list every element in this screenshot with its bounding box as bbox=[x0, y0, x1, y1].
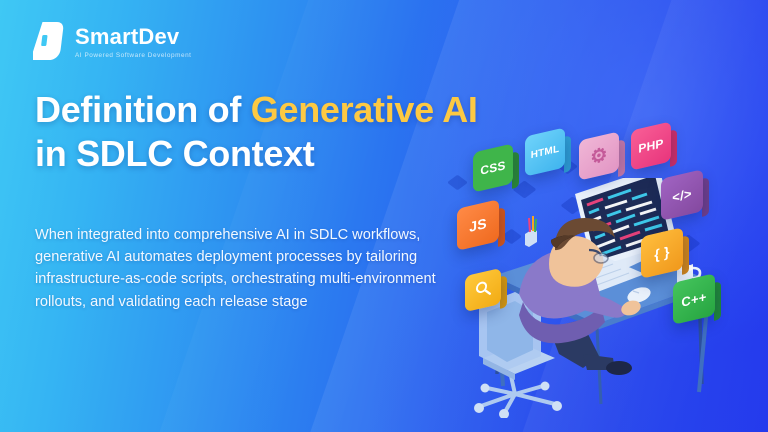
gear-icon: ⚙ bbox=[590, 143, 607, 170]
brand-logo[interactable]: SmartDev AI Powered Software Development bbox=[33, 22, 192, 60]
brand-text: SmartDev AI Powered Software Development bbox=[75, 24, 192, 59]
headline-accent: Generative AI bbox=[251, 89, 478, 130]
badge-cpp-label: C++ bbox=[681, 289, 706, 310]
badge-css[interactable]: CSS bbox=[473, 148, 513, 188]
slide-canvas: SmartDev AI Powered Software Development… bbox=[0, 0, 768, 432]
badge-js[interactable]: JS bbox=[457, 204, 499, 246]
code-tag-icon: </> bbox=[672, 185, 691, 204]
headline-line1-prefix: Definition of bbox=[35, 89, 251, 130]
badge-php-label: PHP bbox=[638, 136, 663, 156]
badge-braces[interactable]: { } bbox=[641, 232, 683, 274]
smartdev-d-mark-icon bbox=[33, 22, 64, 60]
illustration-isometric-developer: CSS HTML ⚙ PHP </> bbox=[445, 120, 768, 420]
badge-code-tag[interactable]: </> bbox=[661, 174, 703, 216]
page-title: Definition of Generative AI in SDLC Cont… bbox=[35, 88, 505, 175]
brand-name: SmartDev bbox=[75, 26, 192, 48]
background-diagonal-band-left bbox=[109, 0, 483, 432]
search-icon bbox=[474, 277, 492, 302]
badge-html-label: HTML bbox=[531, 143, 560, 161]
headline-line2: in SDLC Context bbox=[35, 133, 315, 174]
badge-php[interactable]: PHP bbox=[631, 126, 671, 166]
badge-gears[interactable]: ⚙ bbox=[579, 136, 619, 176]
pen-cup-icon bbox=[525, 216, 537, 247]
braces-icon: { } bbox=[654, 243, 669, 263]
body-paragraph: When integrated into comprehensive AI in… bbox=[35, 224, 445, 313]
badge-search[interactable] bbox=[465, 272, 501, 308]
brand-tagline: AI Powered Software Development bbox=[75, 52, 192, 59]
badge-js-label: JS bbox=[469, 215, 487, 235]
badge-cpp[interactable]: C++ bbox=[673, 278, 715, 320]
badge-css-label: CSS bbox=[480, 158, 505, 178]
badge-html[interactable]: HTML bbox=[525, 132, 565, 172]
